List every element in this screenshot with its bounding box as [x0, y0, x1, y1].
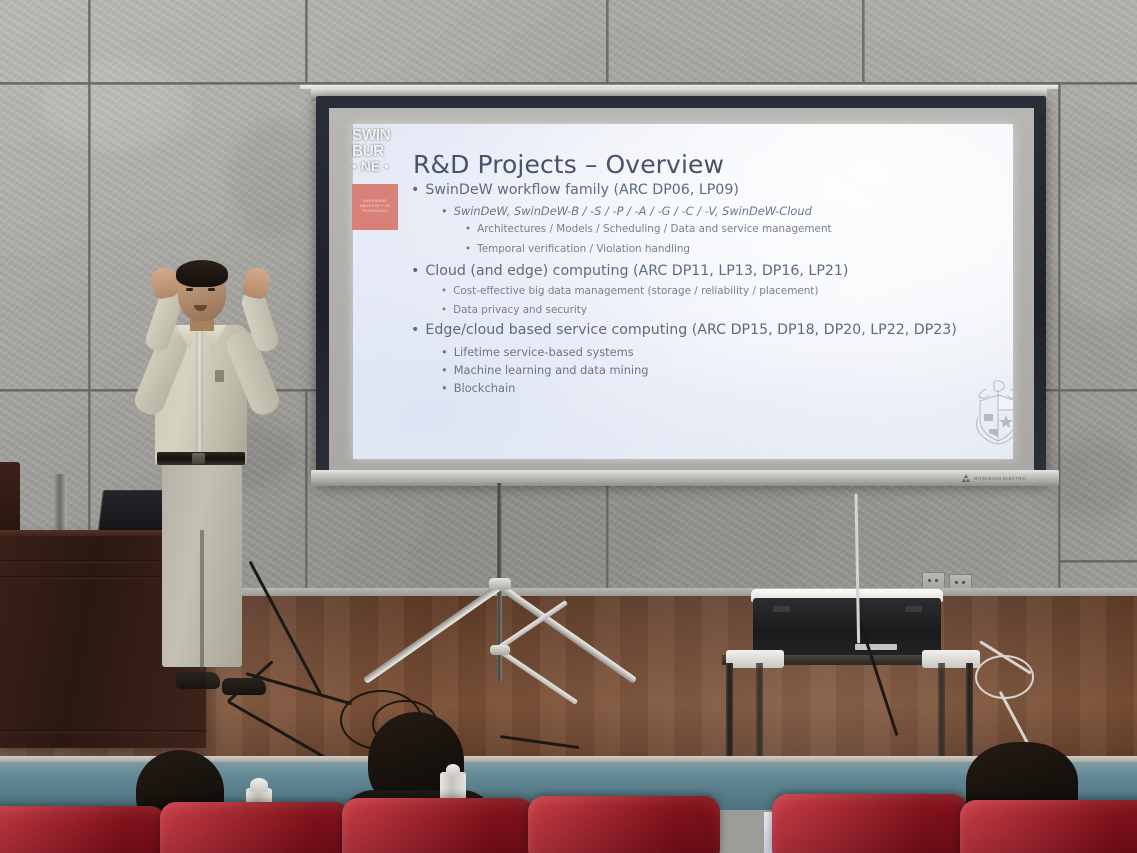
presenter-eye-right [208, 288, 215, 291]
wall-seam [88, 82, 91, 389]
slide-bullet-l3: Cost-effective big data management (stor… [441, 285, 818, 297]
wall-seam [606, 0, 609, 82]
screen-bottom-bar [311, 470, 1059, 486]
presenter-belt-buckle [192, 453, 205, 464]
mitsubishi-diamond-icon [962, 474, 971, 482]
projector-vent [773, 606, 790, 612]
screen-stand-foot-hub [490, 645, 510, 655]
water-bottle-cap [446, 764, 460, 776]
presenter-shoe [222, 678, 266, 695]
logo-box-line-1: SWINBURNE [363, 200, 387, 204]
screen-brand-text: MITSUBISHI ELECTRIC [974, 476, 1027, 481]
presentation-slide: R&D Projects – Overview SwinDeW workflow… [353, 124, 1013, 459]
screen-brand-logo: MITSUBISHI ELECTRIC [962, 474, 1027, 482]
slide-bullet-l2: Machine learning and data mining [441, 363, 649, 377]
slide-bullet-l3: Architectures / Models / Scheduling / Da… [465, 223, 832, 235]
audience-seat[interactable] [772, 794, 968, 853]
slide-bullet-l1: Cloud (and edge) computing (ARC DP11, LP… [411, 263, 848, 279]
lecture-hall-photo: R&D Projects – Overview SwinDeW workflow… [0, 0, 1137, 853]
logo-line-2: BUR [352, 144, 402, 160]
microphone-stand [54, 474, 67, 532]
slide-bullet-l3: Data privacy and security [441, 304, 587, 316]
wall-seam [305, 0, 308, 82]
wall-texture-blotch [230, 120, 320, 240]
presenter-shirt-pocket [215, 370, 224, 382]
swinburne-wordmark: SWIN BUR • NE • [352, 128, 402, 182]
presenter-shoe [176, 672, 220, 689]
slide-title: R&D Projects – Overview [413, 150, 724, 179]
logo-line-1: SWIN [352, 128, 402, 144]
audience-seat[interactable] [0, 806, 166, 853]
wall-seam [0, 82, 1137, 85]
slide-bullet-l1: Edge/cloud based service computing (ARC … [411, 322, 957, 338]
logo-box-line-3: TECHNOLOGY [361, 210, 389, 214]
swinburne-logo: SWIN BUR • NE • SWINBURNE UNIVERSITY OF … [352, 128, 402, 240]
slide-bullet-l2: Blockchain [441, 381, 515, 395]
chair-back [0, 462, 20, 538]
audience-seat[interactable] [342, 798, 534, 853]
presenter-leg-split [200, 530, 204, 670]
wall-seam [862, 0, 865, 82]
swinburne-logo-box: SWINBURNE UNIVERSITY OF TECHNOLOGY [352, 184, 398, 230]
wall-texture-blotch [40, 60, 190, 150]
slide-bullet-l3: Temporal verification / Violation handli… [465, 243, 690, 255]
logo-box-line-2: UNIVERSITY OF [360, 205, 391, 209]
slide-bullet-l2: SwinDeW, SwinDeW-B / -S / -P / -A / -G /… [441, 204, 812, 218]
slide-bullet-l1: SwinDeW workflow family (ARC DP06, LP09) [411, 182, 739, 198]
wall-seam [1058, 82, 1061, 594]
audience-seat[interactable] [960, 800, 1137, 853]
presenter-shirt-placket [196, 328, 203, 460]
thermos-cap [250, 778, 268, 792]
projector-table-tray-left [726, 650, 784, 668]
presenter-eye-left [186, 288, 193, 291]
projector-vent [905, 606, 922, 612]
university-crest-icon [972, 379, 1013, 445]
audience-seat[interactable] [528, 796, 720, 853]
wall-seam [305, 389, 308, 594]
wall-seam [1058, 560, 1137, 563]
slide-bullet-l2: Lifetime service-based systems [441, 345, 634, 359]
audience-seat[interactable] [160, 802, 350, 853]
logo-line-3: • NE • [352, 159, 402, 173]
white-cable-coil [975, 655, 1034, 699]
presenter-hair [176, 260, 228, 287]
lectern-moulding [0, 730, 206, 733]
wall-seam [88, 0, 91, 82]
projector-label [855, 644, 897, 650]
screen-stand-hub [489, 578, 511, 590]
